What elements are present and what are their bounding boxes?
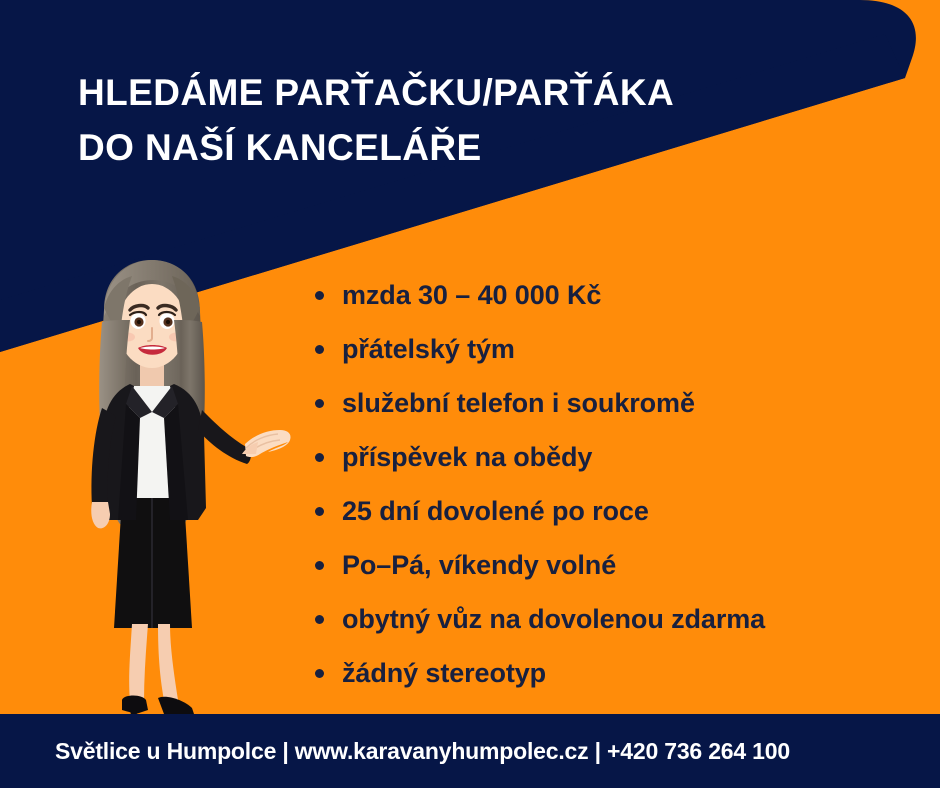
pupil-right — [166, 320, 170, 324]
footer-bar: Světlice u Humpolce | www.karavanyhumpol… — [0, 714, 940, 788]
leg-right — [158, 624, 178, 700]
benefits-list: mzda 30 – 40 000 Kč přátelský tým služeb… — [306, 268, 906, 700]
contact-line: Světlice u Humpolce | www.karavanyhumpol… — [55, 738, 790, 765]
leg-left — [129, 624, 148, 702]
list-item: Po–Pá, víkendy volné — [306, 538, 906, 592]
list-item: přátelský tým — [306, 322, 906, 376]
list-item: mzda 30 – 40 000 Kč — [306, 268, 906, 322]
page-title: HLEDÁME PARŤAČKU/PARŤÁKA DO NAŠÍ KANCELÁ… — [78, 66, 778, 176]
job-advert-poster: HLEDÁME PARŤAČKU/PARŤÁKA DO NAŠÍ KANCELÁ… — [0, 0, 940, 788]
list-item: obytný vůz na dovolenou zdarma — [306, 592, 906, 646]
arm-right-sleeve — [198, 410, 251, 464]
list-item: služební telefon i soukromě — [306, 376, 906, 430]
hand-left — [91, 502, 110, 528]
pupil-left — [137, 320, 141, 324]
businesswoman-presenting-illustration — [52, 258, 294, 720]
list-item: příspěvek na obědy — [306, 430, 906, 484]
list-item: 25 dní dovolené po roce — [306, 484, 906, 538]
list-item: žádný stereotyp — [306, 646, 906, 700]
shoe-right — [158, 697, 194, 714]
